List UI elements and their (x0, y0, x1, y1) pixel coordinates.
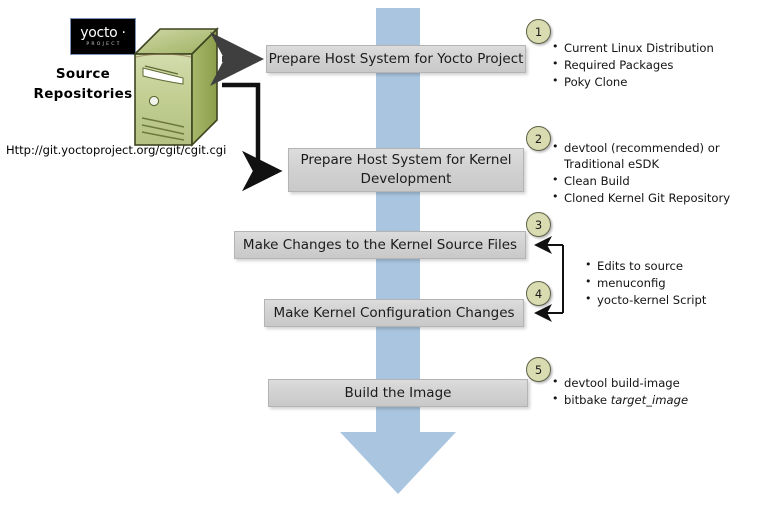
step-badge-3: 3 (526, 212, 551, 237)
list-item-text: bitbake (564, 393, 611, 407)
process-box-5-label: Build the Image (345, 384, 452, 403)
list-item: devtool (recommended) or Traditional eSD… (552, 140, 752, 172)
diagram-canvas: yocto · PROJECT Source Repositories Http… (0, 0, 769, 517)
process-box-2-label-line2: Development (361, 171, 452, 187)
steps-3-4-shared-bullet-list: Edits to source menuconfig yocto-kernel … (585, 258, 765, 309)
source-repositories-label: Source Repositories (18, 64, 148, 104)
process-box-4-label: Make Kernel Configuration Changes (273, 304, 514, 323)
process-box-2-label: Prepare Host System for Kernel Developme… (300, 151, 511, 189)
list-item: Clean Build (552, 173, 752, 189)
yocto-logo-subtext: PROJECT (84, 41, 121, 48)
list-item: Required Packages (552, 57, 757, 73)
list-item: Current Linux Distribution (552, 40, 757, 56)
yocto-logo-wordmark: yocto · (80, 26, 125, 40)
yocto-project-logo: yocto · PROJECT (70, 18, 136, 55)
flow-arrowhead-icon (340, 432, 456, 494)
process-box-prepare-host-yocto[interactable]: Prepare Host System for Yocto Project (266, 45, 526, 73)
step-badge-2: 2 (526, 126, 551, 151)
step-badge-2-number: 2 (535, 132, 542, 146)
server-tower-icon (132, 26, 220, 152)
process-box-3-label: Make Changes to the Kernel Source Files (243, 236, 517, 255)
step-badge-1-number: 1 (535, 25, 542, 39)
step-2-bullet-list: devtool (recommended) or Traditional eSD… (552, 140, 752, 207)
step-badge-1: 1 (526, 19, 551, 44)
list-item: bitbake target_image (552, 392, 752, 408)
step-5-bullet-list: devtool build-image bitbake target_image (552, 375, 752, 409)
process-box-make-kernel-source-changes[interactable]: Make Changes to the Kernel Source Files (234, 231, 526, 259)
process-box-2-label-line1: Prepare Host System for Kernel (300, 152, 511, 168)
step-badge-4-number: 4 (535, 287, 542, 301)
step-badge-3-number: 3 (535, 218, 542, 232)
list-item: yocto-kernel Script (585, 292, 765, 308)
list-item: devtool build-image (552, 375, 752, 391)
list-item-emphasis: target_image (611, 393, 688, 407)
process-box-make-kernel-config-changes[interactable]: Make Kernel Configuration Changes (264, 299, 524, 327)
source-repositories-label-line2: Repositories (18, 84, 148, 104)
list-item: Poky Clone (552, 74, 757, 90)
list-item: Edits to source (585, 258, 765, 274)
process-box-1-label: Prepare Host System for Yocto Project (269, 50, 524, 69)
step-badge-5-number: 5 (535, 363, 542, 377)
step-badge-5: 5 (526, 357, 551, 382)
source-repositories-label-line1: Source (18, 64, 148, 84)
process-box-build-the-image[interactable]: Build the Image (268, 379, 528, 407)
step-badge-4: 4 (526, 281, 551, 306)
list-item: Cloned Kernel Git Repository (552, 190, 752, 206)
step-1-bullet-list: Current Linux Distribution Required Pack… (552, 40, 757, 91)
process-box-prepare-host-kernel[interactable]: Prepare Host System for Kernel Developme… (288, 148, 524, 192)
arrow-server-to-box2 (222, 85, 278, 171)
list-item: menuconfig (585, 275, 765, 291)
